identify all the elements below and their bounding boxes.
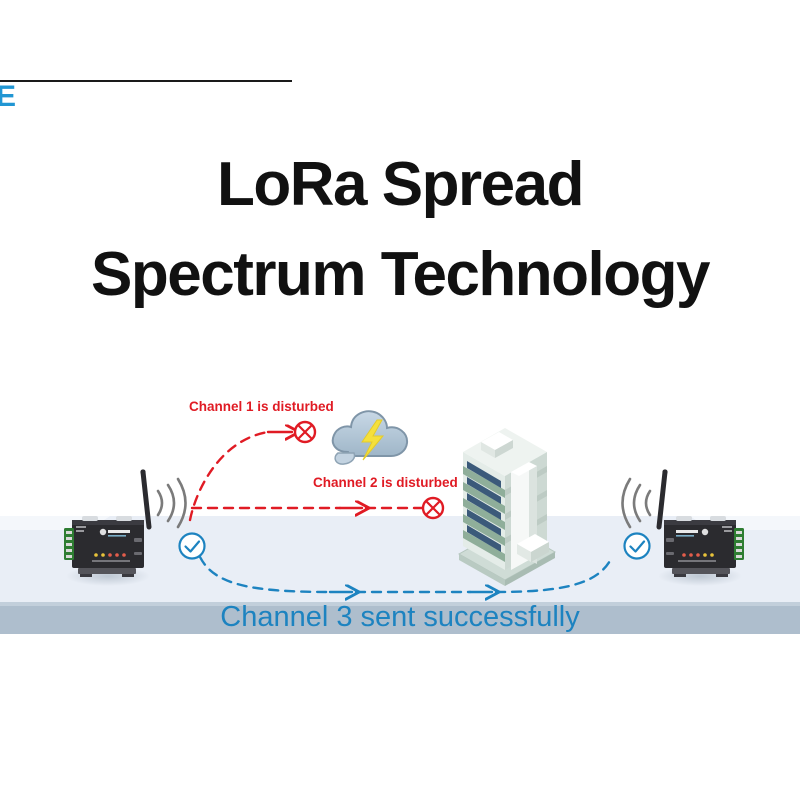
channel-3-ok-marker-right — [625, 534, 650, 559]
page-title: LoRa Spread Spectrum Technology — [0, 140, 800, 320]
storm-cloud-icon — [333, 411, 407, 464]
channel-1-path — [190, 432, 312, 520]
office-building-icon — [459, 428, 555, 586]
channel-1-label: Channel 1 is disturbed — [189, 399, 334, 414]
channel-2-label: Channel 2 is disturbed — [313, 475, 458, 490]
brand-logo: E — [0, 82, 26, 112]
channel-3-label: Channel 3 sent successfully — [220, 601, 580, 633]
channel-1-blocked-marker — [295, 422, 315, 442]
channel-3-ok-marker-left — [180, 534, 205, 559]
title-line-2: Spectrum Technology — [0, 230, 800, 320]
header-divider — [0, 80, 292, 82]
title-line-1: LoRa Spread — [0, 140, 800, 230]
lora-channel-diagram: Channel 1 is disturbed Channel 2 is dist… — [0, 380, 800, 680]
channel-2-blocked-marker — [423, 498, 443, 518]
